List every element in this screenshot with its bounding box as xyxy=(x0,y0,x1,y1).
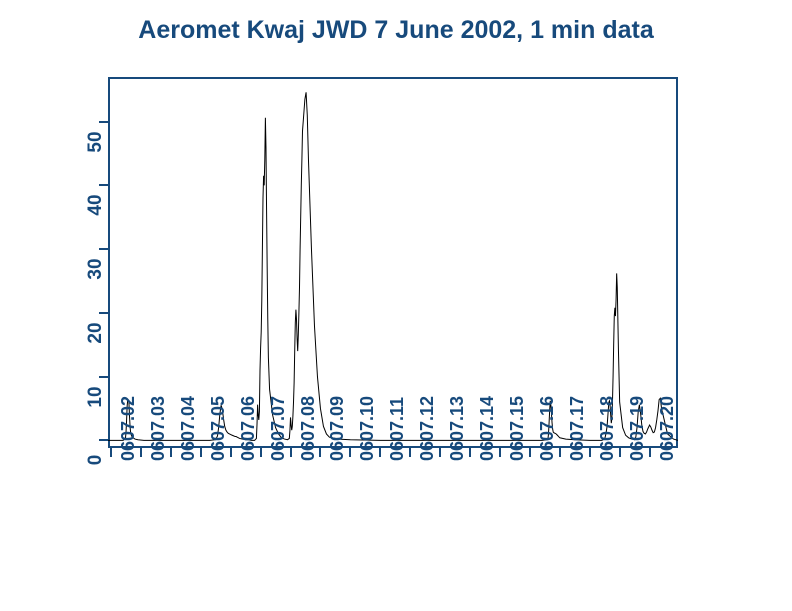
x-tick-mark xyxy=(349,448,351,457)
series-path xyxy=(108,92,678,440)
x-tick-label: 0607.10 xyxy=(357,396,378,461)
x-tick-label: 0607.12 xyxy=(417,396,438,461)
x-tick-label: 0607.06 xyxy=(238,396,259,461)
x-tick-mark xyxy=(140,448,142,457)
x-tick-label: 0607.19 xyxy=(627,396,648,461)
y-tick-label: 0 xyxy=(85,440,107,480)
x-tick-mark xyxy=(619,448,621,457)
x-tick-label: 0607.20 xyxy=(657,396,678,461)
x-tick-label: 0607.04 xyxy=(178,396,199,461)
x-tick-label: 0607.02 xyxy=(118,396,139,461)
x-tick-label: 0607.08 xyxy=(298,396,319,461)
y-tick-label: 20 xyxy=(85,313,107,353)
x-tick-label: 0607.11 xyxy=(387,397,408,461)
x-tick-mark xyxy=(589,448,591,457)
page-title: Aeromet Kwaj JWD 7 June 2002, 1 min data xyxy=(0,16,792,45)
x-tick-mark xyxy=(529,448,531,457)
x-tick-label: 0607.07 xyxy=(268,396,289,461)
x-tick-mark xyxy=(260,448,262,457)
x-tick-label: 0607.09 xyxy=(327,396,348,461)
chart-page: Aeromet Kwaj JWD 7 June 2002, 1 min data… xyxy=(0,0,792,611)
x-tick-mark xyxy=(469,448,471,457)
x-tick-label: 0607.15 xyxy=(507,396,528,461)
data-series-line xyxy=(108,77,678,448)
y-tick-label: 30 xyxy=(85,249,107,289)
plot-area xyxy=(108,77,678,448)
x-tick-mark xyxy=(290,448,292,457)
x-tick-mark xyxy=(110,448,112,457)
x-tick-label: 0607.14 xyxy=(477,396,498,461)
x-tick-mark xyxy=(230,448,232,457)
x-tick-label: 0607.18 xyxy=(597,396,618,461)
x-tick-mark xyxy=(200,448,202,457)
x-tick-mark xyxy=(649,448,651,457)
x-tick-mark xyxy=(170,448,172,457)
x-tick-label: 0607.17 xyxy=(567,396,588,461)
x-tick-mark xyxy=(379,448,381,457)
x-tick-mark xyxy=(499,448,501,457)
x-tick-mark xyxy=(439,448,441,457)
x-tick-label: 0607.13 xyxy=(447,396,468,461)
x-tick-mark xyxy=(319,448,321,457)
x-tick-label: 0607.03 xyxy=(148,396,169,461)
x-tick-label: 0607.16 xyxy=(537,396,558,461)
y-tick-label: 50 xyxy=(85,122,107,162)
x-tick-mark xyxy=(559,448,561,457)
y-tick-label: 10 xyxy=(85,377,107,417)
y-tick-label: 40 xyxy=(85,185,107,225)
x-tick-mark xyxy=(409,448,411,457)
x-tick-label: 0607.05 xyxy=(208,396,229,461)
